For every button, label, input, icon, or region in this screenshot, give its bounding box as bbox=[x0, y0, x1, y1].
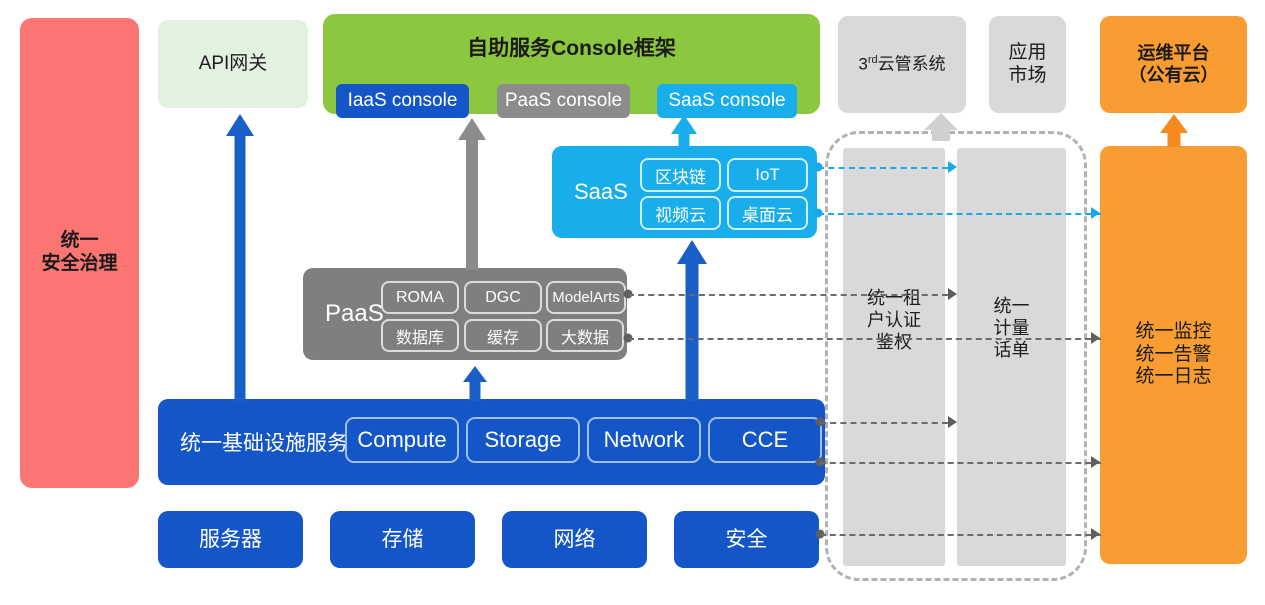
arrow-infra-to-api-gateway bbox=[226, 114, 254, 401]
console-frame-title: 自助服务Console框架 bbox=[323, 32, 820, 62]
saas-chip-video-cloud-label: 视频云 bbox=[655, 201, 706, 226]
arrow-infra-to-saas bbox=[677, 240, 707, 401]
iaas-console-label: IaaS console bbox=[348, 90, 458, 112]
paas-chip-modelarts[interactable]: ModelArts bbox=[546, 281, 626, 314]
ops-platform-line2: （公有云） bbox=[1129, 65, 1219, 87]
arrow-ops-body-to-header bbox=[1159, 114, 1189, 147]
metering-billing-line3: 话单 bbox=[957, 340, 1066, 362]
connector-arrowhead-ops-4 bbox=[1091, 528, 1100, 540]
paas-block-label: PaaS bbox=[325, 300, 384, 328]
paas-chip-bigdata-label: 大数据 bbox=[561, 324, 609, 348]
saas-console-chip[interactable]: SaaS console bbox=[657, 84, 797, 118]
third-party-prefix: 3 bbox=[858, 55, 867, 74]
bottom-box-security[interactable]: 安全 bbox=[674, 511, 819, 568]
ops-text-line1: 统一监控 bbox=[1135, 321, 1211, 344]
connector-arrowhead-tenant-auth-1 bbox=[948, 161, 957, 173]
saas-chip-iot-label: IoT bbox=[755, 165, 780, 185]
paas-chip-cache[interactable]: 缓存 bbox=[464, 319, 542, 352]
bottom-box-storage-label: 存储 bbox=[382, 527, 424, 552]
saas-chip-blockchain[interactable]: 区块链 bbox=[640, 158, 721, 192]
paas-chip-roma-label: ROMA bbox=[396, 289, 444, 307]
paas-console-chip[interactable]: PaaS console bbox=[497, 84, 630, 118]
third-party-sup: rd bbox=[868, 54, 878, 66]
tenant-auth-line1: 统一租 bbox=[843, 288, 945, 310]
connector-paas-to-ops bbox=[628, 338, 1101, 340]
saas-chip-video-cloud[interactable]: 视频云 bbox=[640, 196, 721, 230]
paas-chip-roma[interactable]: ROMA bbox=[381, 281, 459, 314]
infra-chip-network[interactable]: Network bbox=[587, 417, 701, 463]
arrow-group-to-third-party bbox=[924, 113, 958, 141]
paas-block: PaaS ROMA DGC ModelArts 数据库 缓存 大数据 bbox=[303, 268, 627, 360]
ops-platform-header-box: 运维平台 （公有云） bbox=[1100, 16, 1247, 113]
third-party-suffix: 云管系统 bbox=[878, 55, 946, 74]
connector-arrowhead-tenant-auth-3 bbox=[948, 416, 957, 428]
architecture-diagram: 统一 安全治理 API网关 自助服务Console框架 IaaS console… bbox=[0, 0, 1265, 605]
security-panel: 统一 安全治理 bbox=[20, 18, 139, 488]
app-market-line1: 应用 bbox=[1008, 42, 1046, 65]
infra-chip-storage-label: Storage bbox=[484, 427, 561, 453]
bottom-box-network-label: 网络 bbox=[554, 527, 596, 552]
saas-chip-desktop-cloud[interactable]: 桌面云 bbox=[727, 196, 808, 230]
tenant-auth-label: 统一租 户认证 鉴权 bbox=[843, 288, 945, 354]
ops-text-line3: 统一日志 bbox=[1135, 366, 1211, 389]
arrow-infra-to-paas bbox=[462, 366, 488, 401]
bottom-box-storage[interactable]: 存储 bbox=[330, 511, 475, 568]
paas-chip-bigdata[interactable]: 大数据 bbox=[546, 319, 624, 352]
paas-chip-database-label: 数据库 bbox=[396, 324, 444, 348]
ops-monitoring-panel: 统一监控 统一告警 统一日志 bbox=[1100, 146, 1247, 564]
saas-console-label: SaaS console bbox=[668, 90, 785, 112]
connector-bottom-to-ops bbox=[820, 534, 1101, 536]
third-party-cloud-box: 3rd云管系统 bbox=[838, 16, 966, 113]
infra-chip-cce[interactable]: CCE bbox=[708, 417, 822, 463]
paas-console-label: PaaS console bbox=[505, 90, 622, 112]
paas-chip-dgc-label: DGC bbox=[485, 289, 521, 307]
app-market-box: 应用 市场 bbox=[989, 16, 1066, 113]
ops-text-line2: 统一告警 bbox=[1135, 344, 1211, 367]
connector-arrowhead-ops-2 bbox=[1091, 332, 1100, 344]
api-gateway-label: API网关 bbox=[199, 53, 268, 76]
paas-chip-dgc[interactable]: DGC bbox=[464, 281, 542, 314]
bottom-box-server[interactable]: 服务器 bbox=[158, 511, 303, 568]
tenant-auth-line2: 户认证 bbox=[843, 310, 945, 332]
paas-chip-database[interactable]: 数据库 bbox=[381, 319, 459, 352]
infra-chip-cce-label: CCE bbox=[742, 427, 788, 453]
connector-arrowhead-ops-3 bbox=[1091, 456, 1100, 468]
metering-billing-column: 统一 计量 话单 bbox=[957, 148, 1066, 566]
infra-chip-compute[interactable]: Compute bbox=[345, 417, 459, 463]
console-frame: 自助服务Console框架 IaaS console PaaS console … bbox=[323, 14, 820, 114]
infra-chip-compute-label: Compute bbox=[357, 427, 446, 453]
bottom-box-server-label: 服务器 bbox=[199, 527, 262, 552]
connector-paas-to-tenant-auth bbox=[628, 294, 948, 296]
security-panel-line1: 统一 bbox=[60, 230, 98, 253]
tenant-auth-line3: 鉴权 bbox=[843, 332, 945, 354]
connector-arrowhead-tenant-auth-2 bbox=[948, 288, 957, 300]
infrastructure-label: 统一基础设施服务 bbox=[180, 427, 348, 457]
metering-billing-line2: 计量 bbox=[957, 318, 1066, 340]
connector-arrowhead-ops-1 bbox=[1091, 207, 1100, 219]
infrastructure-bar: 统一基础设施服务 Compute Storage Network CCE bbox=[158, 399, 825, 485]
api-gateway-box: API网关 bbox=[158, 20, 308, 108]
saas-block: SaaS 区块链 IoT 视频云 桌面云 bbox=[552, 146, 817, 238]
paas-chip-cache-label: 缓存 bbox=[487, 324, 519, 348]
iaas-console-chip[interactable]: IaaS console bbox=[336, 84, 469, 118]
bottom-box-network[interactable]: 网络 bbox=[502, 511, 647, 568]
third-party-label: 3rd云管系统 bbox=[858, 54, 945, 75]
infra-chip-network-label: Network bbox=[604, 427, 685, 453]
bottom-box-security-label: 安全 bbox=[726, 527, 768, 552]
connector-infra-to-ops bbox=[820, 462, 1101, 464]
ops-platform-line1: 运维平台 bbox=[1138, 43, 1210, 65]
metering-billing-line1: 统一 bbox=[957, 296, 1066, 318]
saas-chip-desktop-cloud-label: 桌面云 bbox=[742, 201, 793, 226]
saas-chip-blockchain-label: 区块链 bbox=[655, 163, 706, 188]
tenant-auth-column: 统一租 户认证 鉴权 bbox=[843, 148, 945, 566]
saas-chip-iot[interactable]: IoT bbox=[727, 158, 808, 192]
connector-saas-to-ops bbox=[818, 213, 1101, 215]
security-panel-line2: 安全治理 bbox=[41, 253, 117, 276]
infra-chip-storage[interactable]: Storage bbox=[466, 417, 580, 463]
paas-chip-modelarts-label: ModelArts bbox=[552, 289, 620, 306]
app-market-line2: 市场 bbox=[1008, 65, 1046, 88]
connector-infra-to-tenant-auth bbox=[820, 422, 948, 424]
metering-billing-label: 统一 计量 话单 bbox=[957, 296, 1066, 362]
saas-block-label: SaaS bbox=[574, 179, 628, 205]
arrow-saas-to-saas-console bbox=[670, 115, 698, 148]
connector-saas-to-tenant-auth bbox=[818, 167, 948, 169]
arrow-paas-to-console bbox=[458, 118, 486, 270]
